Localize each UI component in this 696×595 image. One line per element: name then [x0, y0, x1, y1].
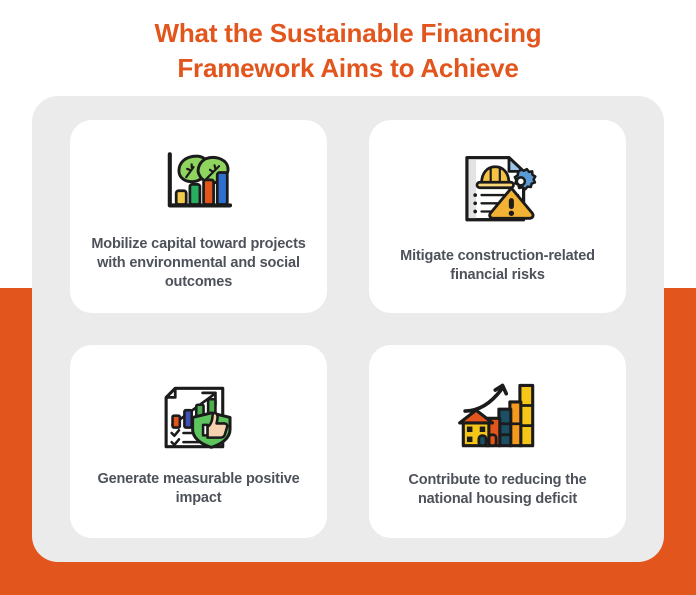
card-housing-deficit[interactable]: Contribute to reducing the national hous… — [369, 345, 626, 538]
card-label: Mobilize capital toward projects with en… — [84, 235, 313, 292]
report-shield-thumbsup-icon — [153, 376, 245, 460]
page-title-line-1: What the Sustainable Financing — [155, 18, 542, 48]
card-label: Mitigate construction-related financial … — [383, 247, 612, 285]
page-title: What the Sustainable Financing Framework… — [0, 16, 696, 85]
cards-panel: Mobilize capital toward projects with en… — [32, 96, 664, 562]
houses-growth-arrow-icon — [452, 375, 544, 459]
cards-grid: Mobilize capital toward projects with en… — [70, 120, 626, 538]
bar-chart-leaf-icon — [153, 141, 245, 225]
card-label: Generate measurable positive impact — [84, 470, 313, 508]
card-measurable-impact[interactable]: Generate measurable positive impact — [70, 345, 327, 538]
card-mobilize-capital[interactable]: Mobilize capital toward projects with en… — [70, 120, 327, 313]
card-mitigate-risks[interactable]: Mitigate construction-related financial … — [369, 120, 626, 313]
card-label: Contribute to reducing the national hous… — [383, 471, 612, 509]
page-title-line-2: Framework Aims to Achieve — [177, 53, 518, 83]
document-hardhat-warning-icon — [452, 149, 544, 233]
